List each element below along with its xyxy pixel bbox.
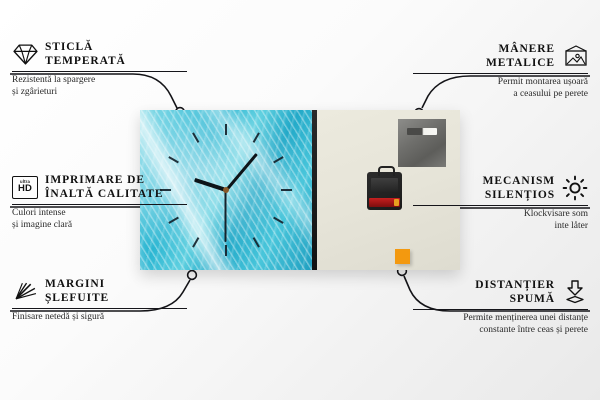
feature-subtitle-line1: Permit montarea ușoară [498, 77, 588, 87]
diamond-icon [12, 41, 38, 67]
feature-title-line2: ÎNALTĂ CALITATE [45, 188, 163, 200]
feature-subtitle-line2: a ceasului pe perete [513, 89, 588, 99]
feature-header: STICLĂ TEMPERATĂ [12, 40, 187, 68]
feature-title: MÂNERE METALICE [486, 42, 555, 70]
gear-icon [562, 175, 588, 201]
feature-title-line2: ȘLEFUITE [45, 292, 109, 304]
foam-spacer [395, 249, 410, 264]
feature-title: STICLĂ TEMPERATĂ [45, 40, 126, 68]
mechanism-detail [371, 178, 398, 192]
feature-distantier-spuma: DISTANȚIER SPUMĂ Permite menținerea unei… [413, 278, 588, 336]
clock-tick [253, 237, 260, 248]
connector-dot-left-3 [188, 271, 197, 280]
feature-title: MECANISM SILENȚIOS [483, 174, 555, 202]
feature-divider [413, 309, 588, 310]
product-photo [140, 110, 460, 270]
feature-margini-slefuite: MARGINI ȘLEFUITE Finisare netedă și sigu… [12, 277, 187, 324]
feature-subtitle-line1: Finisare netedă și sigură [12, 312, 104, 322]
mechanism-loop [378, 166, 395, 176]
picture-hanger-icon [562, 43, 588, 69]
feature-divider [413, 205, 588, 206]
clock-center-cap [223, 187, 229, 193]
feature-title-line2: SPUMĂ [510, 293, 555, 305]
feature-divider [12, 308, 187, 309]
feature-subtitle-line2: și imagine clară [12, 220, 72, 230]
feature-header: MECANISM SILENȚIOS [413, 174, 588, 202]
feature-subtitle-line1: Permite menținerea unei distanțe [463, 313, 588, 323]
clock-second-hand [225, 190, 227, 242]
feature-subtitle: Permit montarea ușoară a ceasului pe per… [413, 77, 588, 100]
battery-tip [394, 199, 399, 206]
feature-subtitle-line1: Klockvisare som [524, 209, 588, 219]
clock-hour-hand [194, 178, 227, 192]
clock-tick [225, 245, 227, 256]
infographic-root: STICLĂ TEMPERATĂ Rezistentă la spargere … [0, 0, 600, 400]
feature-header: MÂNERE METALICE [413, 42, 588, 70]
feature-header: ultra HD IMPRIMARE DE ÎNALTĂ CALITATE [12, 173, 187, 201]
feature-title-line1: MARGINI [45, 278, 105, 290]
feature-title: DISTANȚIER SPUMĂ [475, 278, 555, 306]
feature-title-line2: METALICE [486, 57, 555, 69]
feature-subtitle-line2: inte låter [555, 221, 589, 231]
foam-spacer-icon [562, 279, 588, 305]
feature-subtitle: Klockvisare som inte låter [413, 209, 588, 232]
clock-mechanism [367, 172, 402, 210]
polished-edges-icon [12, 278, 38, 304]
feature-subtitle: Culori intense și imagine clară [12, 208, 187, 231]
ultra-hd-main-text: HD [18, 184, 32, 194]
feature-header: MARGINI ȘLEFUITE [12, 277, 187, 305]
feature-divider [12, 204, 187, 205]
ultra-hd-icon: ultra HD [12, 174, 38, 200]
clock-tick [273, 217, 284, 224]
clock-tick [281, 189, 292, 191]
feature-title-line1: IMPRIMARE DE [45, 174, 145, 186]
feature-title-line2: TEMPERATĂ [45, 55, 126, 67]
feature-subtitle-line2: constante între ceas și perete [479, 325, 588, 335]
feature-imprimare-calitate: ultra HD IMPRIMARE DE ÎNALTĂ CALITATE Cu… [12, 173, 187, 231]
feature-divider [413, 73, 588, 74]
feature-subtitle-line2: și zgârieturi [12, 87, 57, 97]
feature-subtitle-line1: Culori intense [12, 208, 66, 218]
clock-minute-hand [225, 153, 258, 191]
feature-sticla-temperata: STICLĂ TEMPERATĂ Rezistentă la spargere … [12, 40, 187, 98]
battery [369, 198, 400, 207]
feature-subtitle: Permite menținerea unei distanțe constan… [413, 313, 588, 336]
clock-tick [273, 156, 284, 163]
clock-tick [168, 156, 179, 163]
clock-tick [253, 132, 260, 143]
clock-tick [192, 237, 199, 248]
clock-tick [225, 124, 227, 135]
hanger-plate [398, 119, 446, 167]
clock-tick [192, 132, 199, 143]
feature-title: IMPRIMARE DE ÎNALTĂ CALITATE [45, 173, 163, 201]
feature-title: MARGINI ȘLEFUITE [45, 277, 109, 305]
feature-subtitle-line1: Rezistentă la spargere [12, 75, 95, 85]
feature-title-line1: STICLĂ [45, 41, 93, 53]
feature-mecanism-silentios: MECANISM SILENȚIOS Klockvisare som inte … [413, 174, 588, 232]
feature-subtitle: Finisare netedă și sigură [12, 312, 187, 324]
feature-divider [12, 71, 187, 72]
hanger-slot [407, 128, 437, 135]
feature-manere-metalice: MÂNERE METALICE Permit montarea ușoară a… [413, 42, 588, 100]
feature-title-line1: MECANISM [483, 175, 555, 187]
feature-header: DISTANȚIER SPUMĂ [413, 278, 588, 306]
feature-title-line1: MÂNERE [498, 43, 555, 55]
feature-title-line2: SILENȚIOS [485, 189, 555, 201]
feature-title-line1: DISTANȚIER [475, 279, 555, 291]
feature-subtitle: Rezistentă la spargere și zgârieturi [12, 75, 187, 98]
